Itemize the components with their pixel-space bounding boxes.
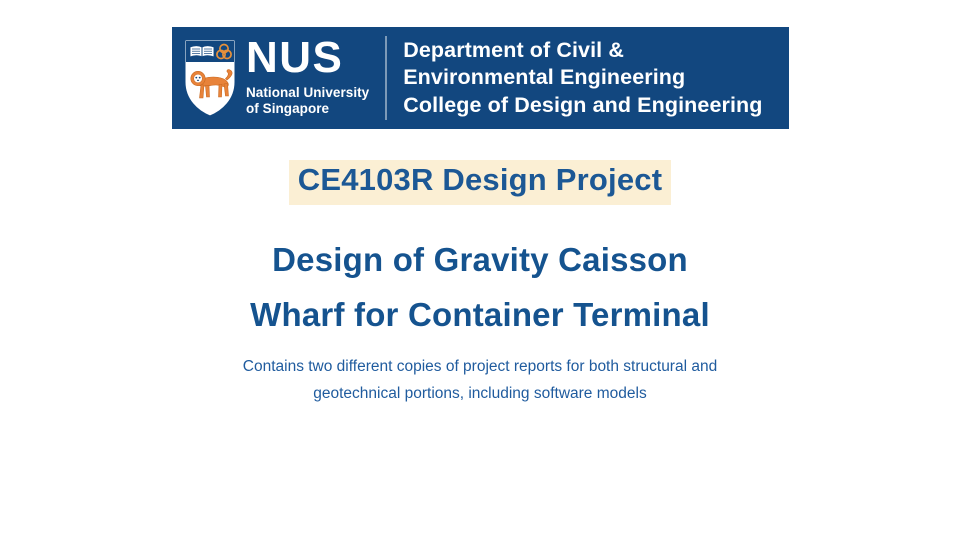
slide-description: Contains two different copies of project… [0,354,960,407]
nus-wordmark-text: NUS [246,36,369,79]
banner-divider [385,36,387,120]
nus-crest-icon [180,35,240,121]
department-block: Department of Civil & Environmental Engi… [403,37,789,120]
course-title: CE4103R Design Project [289,160,672,205]
nus-crest-svg [181,36,239,120]
description-line-2: geotechnical portions, including softwar… [0,381,960,408]
nus-banner: NUS National University of Singapore Dep… [172,27,789,129]
nus-university-line2: of Singapore [246,101,369,117]
project-title-line-1: Design of Gravity Caisson [0,232,960,287]
nus-wordmark: NUS National University of Singapore [246,36,369,119]
department-line-1: Department of Civil & [403,37,789,65]
course-title-row: CE4103R Design Project [0,160,960,205]
project-title: Design of Gravity Caisson Wharf for Cont… [0,232,960,343]
project-title-line-2: Wharf for Container Terminal [0,287,960,342]
nus-university-line1: National University [246,85,369,101]
department-line-2: Environmental Engineering [403,64,789,92]
department-line-3: College of Design and Engineering [403,92,789,120]
description-line-1: Contains two different copies of project… [0,354,960,381]
